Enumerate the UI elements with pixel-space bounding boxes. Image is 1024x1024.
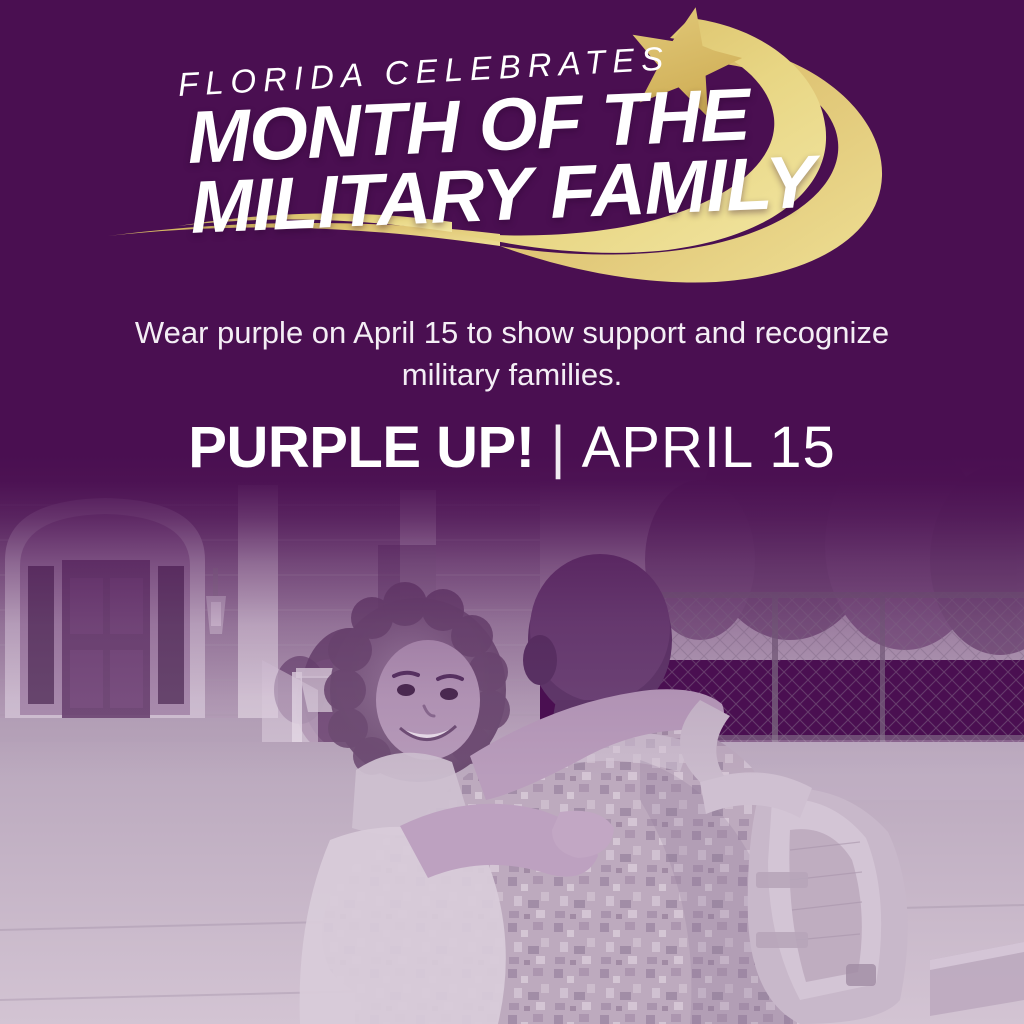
cta-divider: | [551, 414, 566, 481]
main-title: MONTH OF THE MILITARY FAMILY [186, 78, 804, 242]
poster-canvas: FLORIDA CELEBRATES MONTH OF THE MILITARY… [0, 0, 1024, 1024]
cta-strong-text: PURPLE UP! [188, 414, 534, 481]
cta-date-text: APRIL 15 [582, 414, 836, 481]
call-to-action: PURPLE UP! | APRIL 15 [188, 414, 835, 481]
supporting-copy: Wear purple on April 15 to show support … [92, 312, 932, 395]
logo-lockup: FLORIDA CELEBRATES MONTH OF THE MILITARY… [0, 0, 1024, 300]
